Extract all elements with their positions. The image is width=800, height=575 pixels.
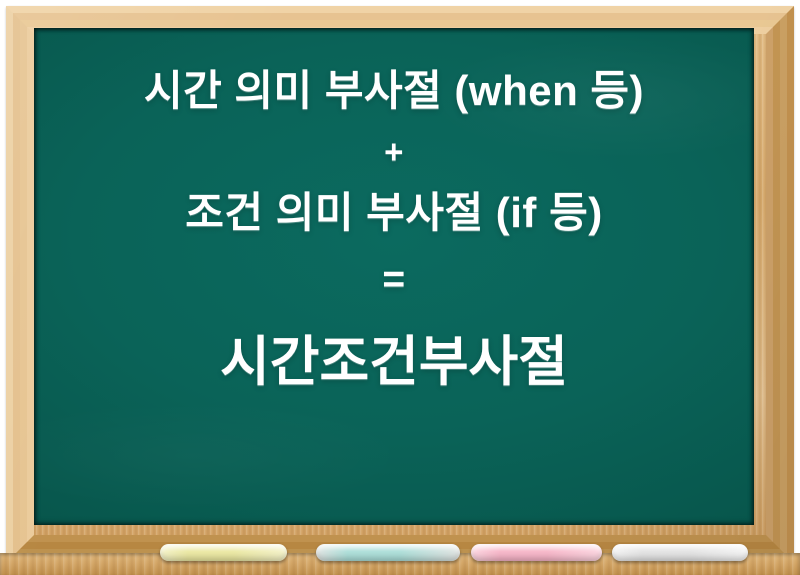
chalkboard-surface: 시간 의미 부사절 (when 등) + 조건 의미 부사절 (if 등) = … — [34, 28, 754, 525]
equals-operator: = — [34, 242, 754, 318]
adverbial-clause-time-label: 시간 의미 부사절 (when 등) — [34, 62, 754, 120]
chalk-mint[interactable] — [316, 544, 460, 561]
plus-operator: + — [34, 120, 754, 184]
chalkboard-slide: 시간 의미 부사절 (when 등) + 조건 의미 부사절 (if 등) = … — [0, 0, 800, 575]
chalk-white[interactable] — [612, 544, 748, 561]
lesson-text-block: 시간 의미 부사절 (when 등) + 조건 의미 부사절 (if 등) = … — [34, 62, 754, 406]
chalk-pink[interactable] — [471, 544, 602, 561]
adverbial-clause-condition-label: 조건 의미 부사절 (if 등) — [34, 184, 754, 242]
result-term-label: 시간조건부사절 — [34, 318, 754, 406]
chalk-yellow[interactable] — [160, 544, 287, 561]
